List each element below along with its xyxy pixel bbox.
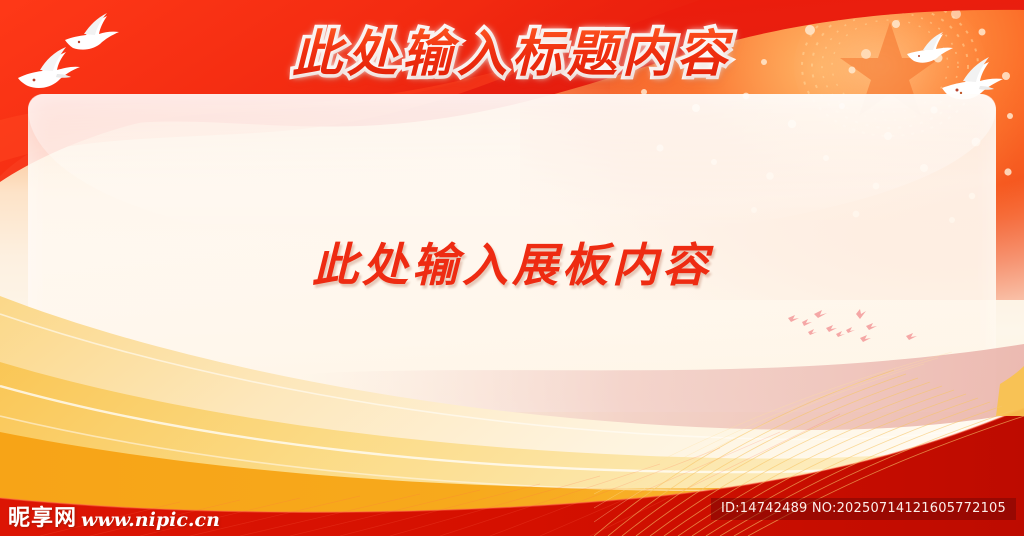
watermark: 昵享网 www.nipic.cn: [8, 506, 220, 532]
poster-body-text: 此处输入展板内容: [0, 236, 1024, 294]
poster-canvas: 此处输入标题内容 此处输入标题内容 此处输入展板内容 昵享网 www.nipic…: [0, 0, 1024, 536]
watermark-url: www.nipic.cn: [81, 508, 220, 532]
poster-title: 此处输入标题内容: [0, 24, 1024, 84]
watermark-logo: 昵享网: [8, 506, 77, 532]
image-id-label: ID:14742489 NO:20250714121605772105: [711, 498, 1016, 520]
